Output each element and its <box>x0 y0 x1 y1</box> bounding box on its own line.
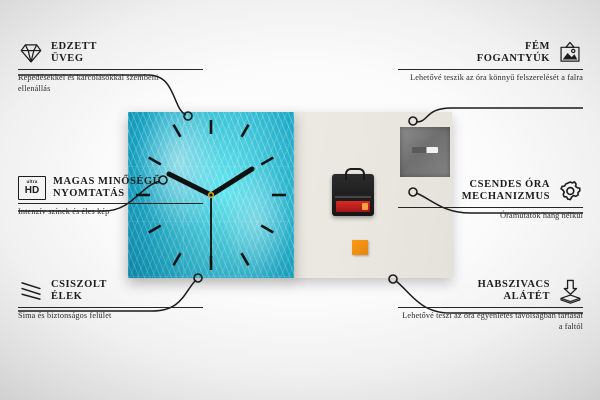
divider <box>18 307 203 308</box>
feature-silent-mechanism: CSENDES ÓRA MECHANIZMUS Óramutatók hang … <box>398 178 583 222</box>
feature-description: Lehetővé teszi az óra egyenletes távolsá… <box>398 311 583 333</box>
feature-titles: CSISZOLT ÉLEK <box>51 279 107 303</box>
feature-title-line2: NYOMTATÁS <box>53 188 161 200</box>
feature-title-line1: CSISZOLT <box>51 279 107 291</box>
feature-metal-handles: FÉM FOGANTYÚK Lehetővé teszik az óra kön… <box>398 40 583 84</box>
hanger-slot <box>412 147 438 153</box>
divider <box>398 307 583 308</box>
feature-title-line2: FOGANTYÚK <box>477 53 550 65</box>
feature-titles: FÉM FOGANTYÚK <box>477 41 550 65</box>
ultra-hd-icon: ultra HD <box>18 176 46 200</box>
feature-titles: HABSZIVACS ALÁTÉT <box>478 279 550 303</box>
diamond-icon <box>18 40 44 66</box>
clock-mechanism <box>332 174 374 216</box>
feature-description: Óramutatók hang nélkül <box>398 211 583 222</box>
feature-description: Lehetővé teszik az óra könnyű felszerelé… <box>398 73 583 84</box>
foam-pad-arrow-icon <box>557 278 583 304</box>
gear-icon <box>557 178 583 204</box>
feature-title-line1: HABSZIVACS <box>478 279 550 291</box>
divider <box>18 69 203 70</box>
feature-description: Intenzív színek és éles kép <box>18 207 203 218</box>
feature-titles: MAGAS MINŐSÉGŰ NYOMTATÁS <box>53 176 161 200</box>
polished-edges-icon <box>18 278 44 304</box>
feature-title-line1: CSENDES ÓRA <box>462 179 550 191</box>
divider <box>398 69 583 70</box>
feature-tempered-glass: EDZETT ÜVEG Repedésekkel és karcolásokka… <box>18 40 203 95</box>
feature-titles: EDZETT ÜVEG <box>51 41 97 65</box>
battery <box>336 201 370 212</box>
feature-titles: CSENDES ÓRA MECHANIZMUS <box>462 179 550 203</box>
feature-foam-pad: HABSZIVACS ALÁTÉT Lehetővé teszi az óra … <box>398 278 583 333</box>
mechanism-seam <box>335 196 371 198</box>
mechanism-hook <box>345 168 365 180</box>
picture-frame-hanger-icon <box>557 40 583 66</box>
feature-title-line2: ALÁTÉT <box>478 291 550 303</box>
feature-polished-edges: CSISZOLT ÉLEK Sima és biztonságos felüle… <box>18 278 203 322</box>
feature-description: Sima és biztonságos felület <box>18 311 203 322</box>
feature-title-line1: MAGAS MINŐSÉGŰ <box>53 176 161 188</box>
foam-spacer-pad <box>352 240 368 255</box>
feature-title-line1: EDZETT <box>51 41 97 53</box>
feature-title-line2: MECHANIZMUS <box>462 191 550 203</box>
infographic-canvas: EDZETT ÜVEG Repedésekkel és karcolásokka… <box>0 0 600 400</box>
divider <box>18 203 203 204</box>
feature-title-line2: ÉLEK <box>51 291 107 303</box>
feature-title-line1: FÉM <box>477 41 550 53</box>
feature-description: Repedésekkel és karcolásokkal szembeni e… <box>18 73 170 95</box>
ultra-hd-icon-large-text: HD <box>25 186 39 196</box>
metal-hanger-plate <box>400 127 450 177</box>
divider <box>398 207 583 208</box>
feature-title-line2: ÜVEG <box>51 53 97 65</box>
feature-high-quality-print: ultra HD MAGAS MINŐSÉGŰ NYOMTATÁS Intenz… <box>18 176 203 218</box>
